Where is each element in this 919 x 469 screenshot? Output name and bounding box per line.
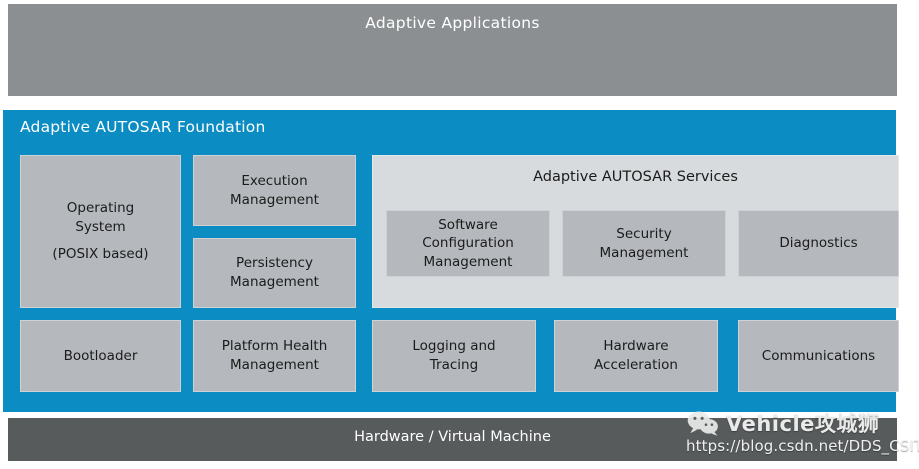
platform-health-line-1: Platform Health [222, 337, 328, 356]
block-diagnostics: Diagnostics [738, 210, 899, 277]
operating-system-line-1: Operating [67, 199, 135, 218]
diagram-canvas: Adaptive Applications Adaptive AUTOSAR F… [0, 0, 919, 469]
software-configuration-line-3: Management [422, 253, 514, 272]
security-management-line-1: Security [600, 225, 689, 244]
diagnostics-label: Diagnostics [779, 234, 857, 253]
software-configuration-line-1: Software [422, 216, 514, 235]
persistency-management-line-2: Management [230, 273, 319, 292]
hardware-acceleration-line-1: Hardware [594, 337, 678, 356]
foundation-title: Adaptive AUTOSAR Foundation [20, 118, 266, 136]
persistency-management-line-1: Persistency [230, 254, 319, 273]
block-execution-management: Execution Management [193, 155, 356, 226]
hardware-virtual-machine-bar: Hardware / Virtual Machine [8, 418, 897, 461]
execution-management-line-1: Execution [230, 172, 319, 191]
bootloader-label: Bootloader [64, 347, 138, 366]
block-communications: Communications [738, 320, 899, 392]
block-logging-and-tracing: Logging and Tracing [372, 320, 536, 392]
communications-label: Communications [762, 347, 875, 366]
block-platform-health-management: Platform Health Management [193, 320, 356, 392]
block-operating-system: Operating System (POSIX based) [20, 155, 181, 308]
hardware-virtual-machine-label: Hardware / Virtual Machine [8, 429, 897, 445]
software-configuration-line-2: Configuration [422, 234, 514, 253]
operating-system-line-2: System [75, 218, 125, 237]
services-title: Adaptive AUTOSAR Services [373, 169, 898, 185]
block-security-management: Security Management [562, 210, 726, 277]
adaptive-applications-band: Adaptive Applications [8, 4, 897, 96]
security-management-line-2: Management [600, 244, 689, 263]
block-persistency-management: Persistency Management [193, 238, 356, 308]
platform-health-line-2: Management [222, 356, 328, 375]
execution-management-line-2: Management [230, 191, 319, 210]
logging-line-1: Logging and [412, 337, 495, 356]
operating-system-line-3: (POSIX based) [52, 245, 148, 264]
block-bootloader: Bootloader [20, 320, 181, 392]
block-software-configuration-management: Software Configuration Management [386, 210, 550, 277]
block-hardware-acceleration: Hardware Acceleration [554, 320, 718, 392]
logging-line-2: Tracing [412, 356, 495, 375]
hardware-acceleration-line-2: Acceleration [594, 356, 678, 375]
adaptive-applications-label: Adaptive Applications [8, 14, 897, 32]
